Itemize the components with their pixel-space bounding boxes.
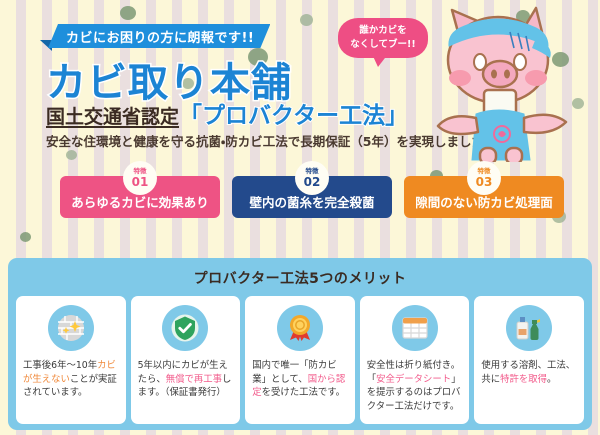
- announcement-ribbon: カビにお困りの方に朗報です!!: [48, 24, 270, 48]
- mold-spore-icon: [120, 6, 136, 20]
- mascot-speech-text: 誰かカビを なくしてブー!!: [350, 24, 415, 52]
- mold-spore-icon: [20, 232, 31, 242]
- merits-panel-title: プロバクター工法5つのメリット: [8, 258, 592, 288]
- feature-badge-list: 特徴 01 あらゆるカビに効果あり 特徴 02 壁内の菌糸を完全殺菌 特徴 03…: [60, 176, 564, 218]
- merit-card-1[interactable]: 工事後6年〜10年カビが生えないことが実証されています。: [16, 296, 126, 424]
- brick-wall-sparkle-icon: [48, 305, 94, 351]
- pig-mascot-icon: [432, 2, 600, 162]
- feature-badge-3[interactable]: 特徴 03 隙間のない防カビ処理面: [404, 176, 564, 218]
- page-root: カビにお困りの方に朗報です!! カビ取り本舗 国土交通省認定 「プロバクター工法…: [0, 0, 600, 435]
- speech-bubble-tail: [372, 54, 388, 67]
- mold-spore-icon: [300, 14, 313, 26]
- merit-card-4-text: 安全性は折り紙付き。「安全データシート」を提示するのはプロバクター工法だけです。: [367, 359, 463, 414]
- data-sheet-icon: [392, 305, 438, 351]
- feature-badge-3-kicker: 特徴: [478, 168, 491, 175]
- merit-text-highlight: 無償で再工事: [166, 374, 222, 385]
- shield-check-icon: [162, 305, 208, 351]
- merit-card-2-text: 5年以内にカビが生えたら、無償で再工事します。（保証書発行）: [138, 359, 234, 400]
- feature-badge-2-number-circle: 特徴 02: [295, 161, 329, 195]
- feature-badge-1-kicker: 特徴: [134, 168, 147, 175]
- spray-bottle-icon: [506, 305, 552, 351]
- merit-text-highlight: 特許を取得: [500, 374, 547, 385]
- merit-text-part: 。: [547, 374, 556, 385]
- feature-badge-3-number-circle: 特徴 03: [467, 161, 501, 195]
- merit-card-4[interactable]: 安全性は折り紙付き。「安全データシート」を提示するのはプロバクター工法だけです。: [360, 296, 470, 424]
- merit-card-3-text: 国内で唯一「防カビ業」として、国から認定を受けた工法です。: [252, 359, 348, 400]
- merit-card-5-text: 使用する溶剤、工法、共に特許を取得。: [481, 359, 577, 386]
- feature-badge-1-number: 01: [132, 176, 149, 188]
- merit-card-3[interactable]: 国内で唯一「防カビ業」として、国から認定を受けた工法です。: [245, 296, 355, 424]
- mascot-speech-bubble: 誰かカビを なくしてブー!!: [338, 18, 428, 58]
- feature-badge-3-number: 03: [476, 176, 493, 188]
- lead-paragraph: 安全な住環境と健康を守る抗菌・防カビ工法で長期保証（5年）を実現しました！: [46, 131, 496, 150]
- merit-card-list: 工事後6年〜10年カビが生えないことが実証されています。 5年以内にカビが生えた…: [8, 288, 592, 424]
- merit-text-highlight: 安全データシート: [376, 374, 451, 385]
- feature-badge-2-number: 02: [304, 176, 321, 188]
- award-medal-icon: [277, 305, 323, 351]
- subtitle-method-name: 「プロバクター工法」: [179, 96, 408, 130]
- announcement-ribbon-text: カビにお困りの方に朗報です!!: [66, 27, 254, 46]
- feature-badge-1-number-circle: 特徴 01: [123, 161, 157, 195]
- subtitle: 国土交通省認定 「プロバクター工法」: [46, 96, 408, 130]
- feature-badge-2[interactable]: 特徴 02 壁内の菌糸を完全殺菌: [232, 176, 392, 218]
- merit-card-1-text: 工事後6年〜10年カビが生えないことが実証されています。: [23, 359, 119, 400]
- merit-text-part: 工事後6年〜10年: [23, 360, 97, 371]
- feature-badge-1[interactable]: 特徴 01 あらゆるカビに効果あり: [60, 176, 220, 218]
- feature-badge-2-kicker: 特徴: [306, 168, 319, 175]
- subtitle-certification: 国土交通省認定: [46, 102, 179, 129]
- merit-card-5[interactable]: 使用する溶剤、工法、共に特許を取得。: [474, 296, 584, 424]
- merits-panel: プロバクター工法5つのメリット 工事後6年〜10年カビが生えないことが実証されて…: [8, 258, 592, 430]
- merit-card-2[interactable]: 5年以内にカビが生えたら、無償で再工事します。（保証書発行）: [131, 296, 241, 424]
- merit-text-part: を受けた工法です。: [262, 387, 345, 398]
- mold-spore-icon: [66, 150, 77, 160]
